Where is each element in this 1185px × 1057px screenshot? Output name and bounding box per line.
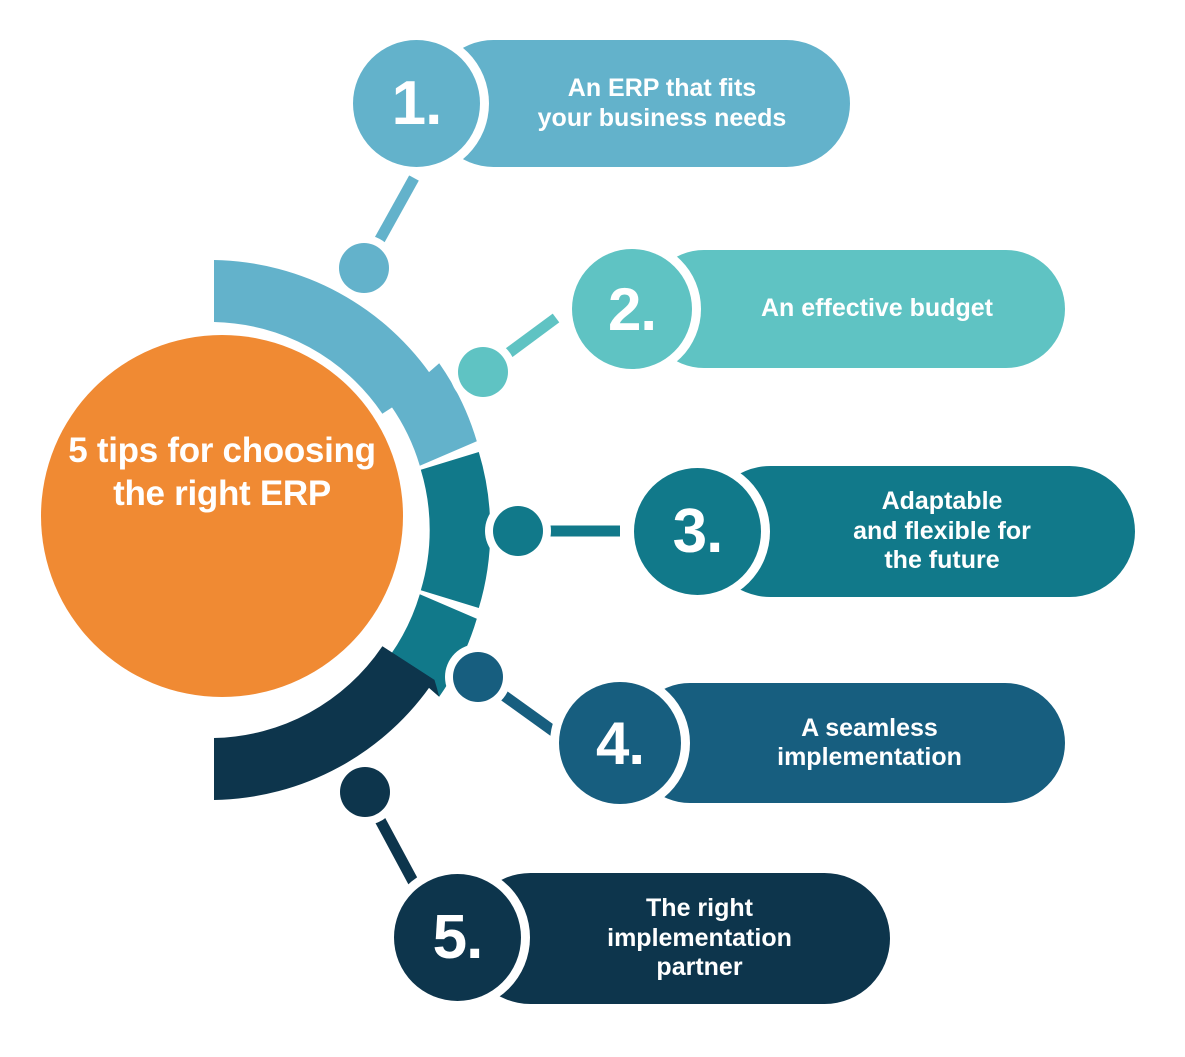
step-4-label-line-1: A seamless [777, 714, 962, 744]
center-circle [41, 335, 403, 697]
step-4-number: 4. [596, 709, 644, 778]
node-dot-3-fill [493, 506, 543, 556]
center-title: 5 tips for choosing the right ERP [62, 430, 382, 515]
step-1-label-line-1: An ERP that fits [538, 74, 787, 104]
step-3-label-line-2: and flexible for [853, 517, 1031, 547]
step-3-label-line-1: Adaptable [853, 487, 1031, 517]
step-4-pill[interactable]: A seamless implementation [630, 683, 1065, 803]
infographic-canvas: 5 tips for choosing the right ERP An ERP… [0, 0, 1185, 1057]
node-dot-5-fill [340, 767, 390, 817]
step-3-number-circle[interactable]: 3. [634, 468, 761, 595]
node-dot-2-fill [458, 347, 508, 397]
step-2-label-line-1: An effective budget [761, 294, 993, 324]
step-5-number: 5. [433, 902, 483, 973]
step-5-number-circle[interactable]: 5. [394, 874, 521, 1001]
center-title-line-3: right ERP [174, 474, 331, 513]
step-1-pill[interactable]: An ERP that fits your business needs [430, 40, 850, 167]
step-5-label-line-2: implementation [607, 924, 792, 954]
step-3-label-line-3: the future [853, 546, 1031, 576]
step-3-number: 3. [673, 496, 723, 567]
arc-segment-3 [421, 452, 491, 608]
step-5-label-line-3: partner [607, 953, 792, 983]
step-5-label-line-1: The right [607, 894, 792, 924]
step-4-number-circle[interactable]: 4. [559, 682, 681, 804]
step-5-pill[interactable]: The right implementation partner [465, 873, 890, 1004]
step-2-number-circle[interactable]: 2. [572, 249, 692, 369]
step-2-number: 2. [608, 275, 656, 344]
node-dot-4-fill [453, 652, 503, 702]
step-3-pill[interactable]: Adaptable and flexible for the future [705, 466, 1135, 597]
step-1-number-circle[interactable]: 1. [353, 40, 480, 167]
step-2-pill[interactable]: An effective budget [645, 250, 1065, 368]
step-1-label-line-2: your business needs [538, 104, 787, 134]
node-dot-1-fill [339, 243, 389, 293]
step-4-label-line-2: implementation [777, 743, 962, 773]
center-title-line-1: 5 tips for [68, 431, 213, 470]
step-1-number: 1. [392, 68, 442, 139]
